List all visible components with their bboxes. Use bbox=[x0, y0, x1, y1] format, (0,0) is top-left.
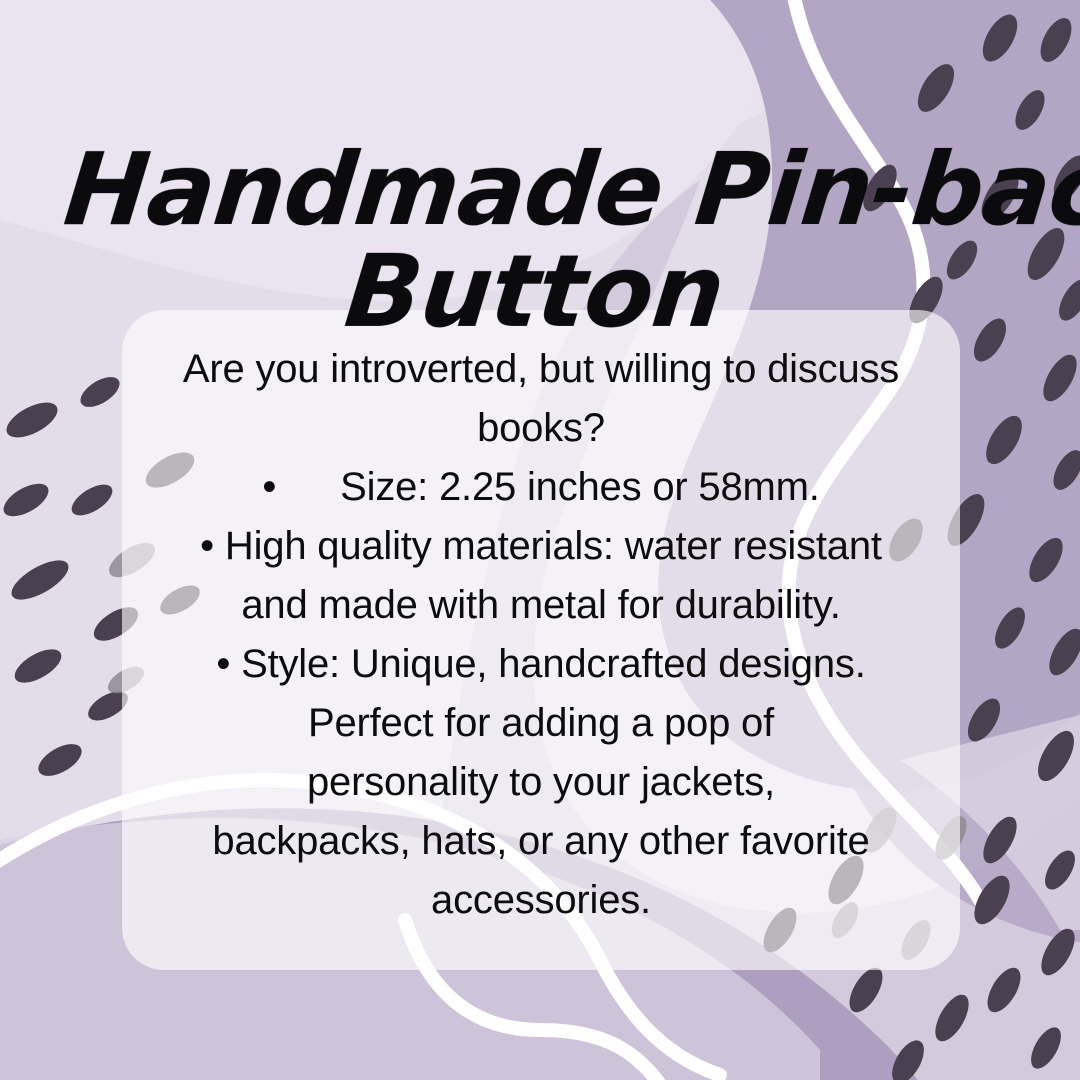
bullet-item-materials: • High quality materials: water resistan… bbox=[140, 517, 942, 576]
description-line: Are you introverted, but willing to disc… bbox=[140, 340, 942, 399]
poster-canvas: Handmade Pin-back Button Are you introve… bbox=[0, 0, 1080, 1080]
bullet-glyph: • bbox=[262, 458, 276, 517]
bullet-text: Size: 2.25 inches or 58mm. bbox=[340, 465, 819, 509]
bullet-glyph: • bbox=[200, 517, 214, 576]
bullet-text: High quality materials: water resistant bbox=[225, 524, 882, 568]
description-line: backpacks, hats, or any other favorite bbox=[140, 812, 942, 871]
title-line-2: Button bbox=[49, 241, 1020, 343]
bullet-item-style: • Style: Unique, handcrafted designs. bbox=[140, 635, 942, 694]
description-line: books? bbox=[140, 399, 942, 458]
bullet-item-size: •Size: 2.25 inches or 58mm. bbox=[140, 458, 942, 517]
description-line: personality to your jackets, bbox=[140, 753, 942, 812]
bullet-text: Style: Unique, handcrafted designs. bbox=[241, 642, 866, 686]
page-title: Handmade Pin-back Button bbox=[0, 139, 1080, 343]
title-line-1: Handmade Pin-back bbox=[60, 139, 1031, 241]
description-line: Perfect for adding a pop of bbox=[140, 694, 942, 753]
description-line: accessories. bbox=[140, 871, 942, 930]
product-description: Are you introverted, but willing to disc… bbox=[140, 340, 942, 930]
description-line: and made with metal for durability. bbox=[140, 576, 942, 635]
bullet-glyph: • bbox=[216, 635, 230, 694]
